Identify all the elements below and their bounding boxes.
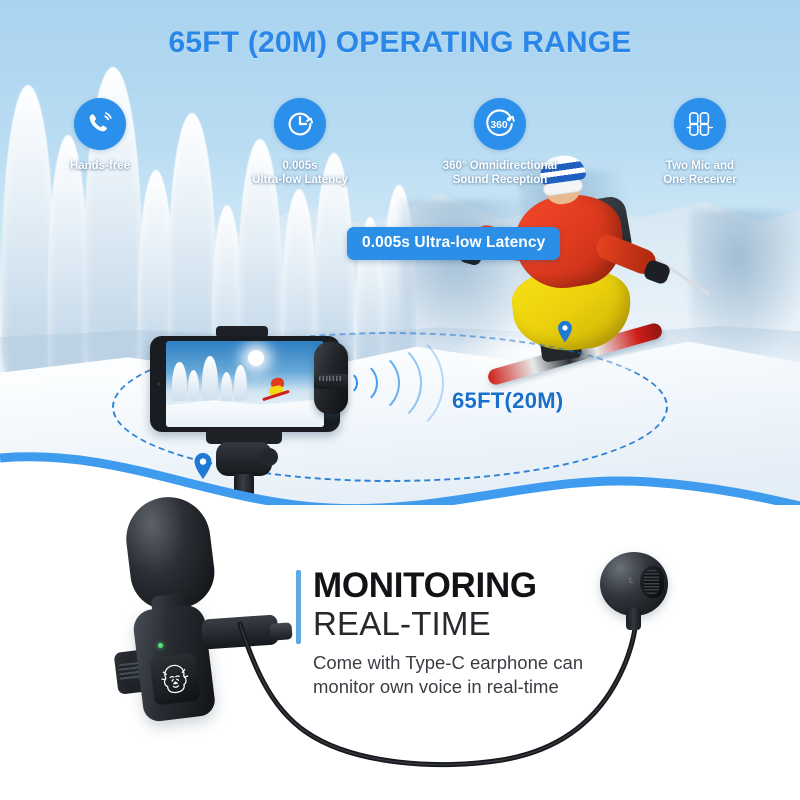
360-degree-icon: 360 <box>474 98 526 150</box>
type-c-connector <box>201 614 279 649</box>
svg-text:360: 360 <box>490 120 508 131</box>
phone-call-icon <box>74 98 126 150</box>
feature-hands-free[interactable]: Hands-free <box>0 98 200 173</box>
feature-label: Two Mic and One Receiver <box>663 159 737 187</box>
smartphone <box>150 336 340 432</box>
feature-low-latency[interactable]: 0.005s Ultra-low Latency <box>200 98 400 187</box>
lion-head-logo-icon <box>149 652 201 705</box>
two-mic-one-receiver-icon <box>674 98 726 150</box>
latency-badge: 0.005s Ultra-low Latency <box>347 227 560 260</box>
top-scene: 65FT (20M) OPERATING RANGE Hands-free <box>0 0 800 505</box>
page-title: 65FT (20M) OPERATING RANGE <box>0 26 800 60</box>
section-title-bold: MONITORING <box>313 566 537 606</box>
lavalier-microphone <box>110 495 320 715</box>
green-status-led <box>158 643 163 648</box>
section-body-line-1: Come with Type-C earphone can <box>313 652 583 674</box>
feature-label: 360° Omnidirectional Sound Reception <box>443 159 558 187</box>
wireless-signal-waves-icon <box>334 328 454 438</box>
earbud-grill <box>644 570 659 594</box>
accent-bar <box>296 570 301 644</box>
feature-two-mic-one-receiver[interactable]: Two Mic and One Receiver <box>600 98 800 187</box>
earphone-left-marking: L <box>629 576 633 585</box>
feature-omnidirectional[interactable]: 360 360° Omnidirectional Sound Reception <box>400 98 600 187</box>
range-distance-label: 65FT(20M) <box>452 388 564 414</box>
section-body-line-2: monitor own voice in real-time <box>313 676 559 698</box>
phone-screen <box>166 341 324 427</box>
product-infographic: 65FT (20M) OPERATING RANGE Hands-free <box>0 0 800 800</box>
section-title-light: REAL-TIME <box>313 605 491 643</box>
clock-refresh-icon <box>274 98 326 150</box>
screen-skier <box>269 378 289 398</box>
feature-label: 0.005s Ultra-low Latency <box>252 159 348 187</box>
type-c-earphone: L <box>600 552 690 662</box>
feature-label: Hands-free <box>70 159 130 173</box>
feature-row: Hands-free 0.005s Ultra-low Latency <box>0 98 800 187</box>
location-pin-icon <box>556 320 574 343</box>
